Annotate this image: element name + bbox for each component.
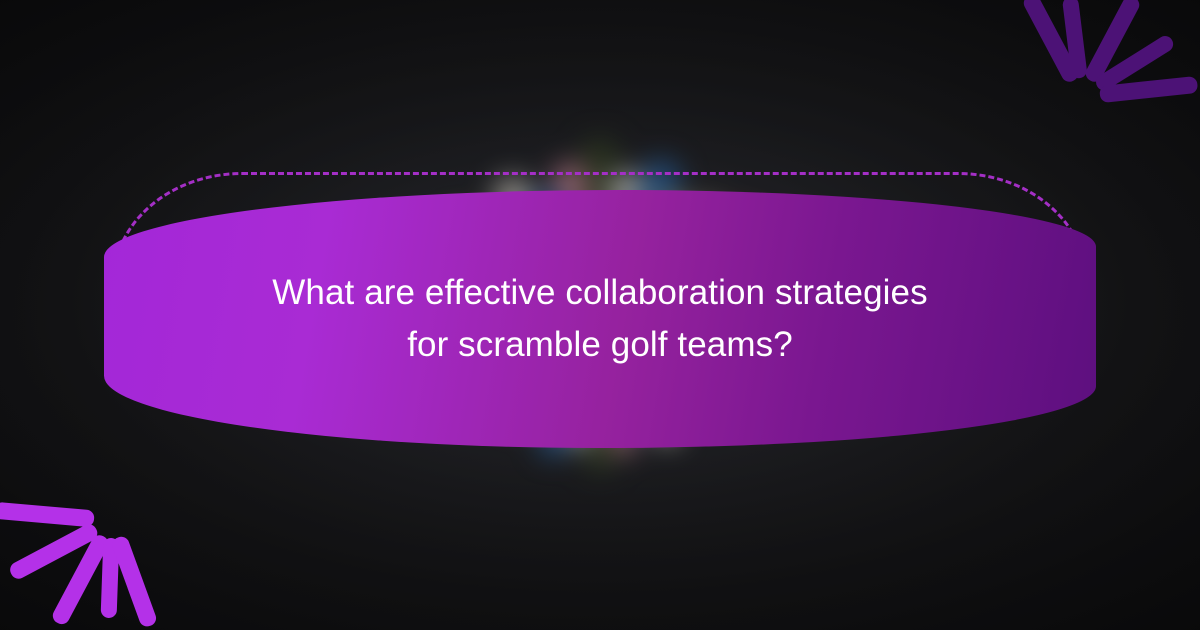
question-line-2: for scramble golf teams? [407, 326, 793, 365]
share-card-canvas: What are effective collaboration strateg… [0, 0, 1200, 630]
question-line-1: What are effective collaboration strateg… [272, 274, 927, 313]
card-text-block: What are effective collaboration strateg… [104, 190, 1096, 448]
question-card: What are effective collaboration strateg… [104, 176, 1096, 448]
